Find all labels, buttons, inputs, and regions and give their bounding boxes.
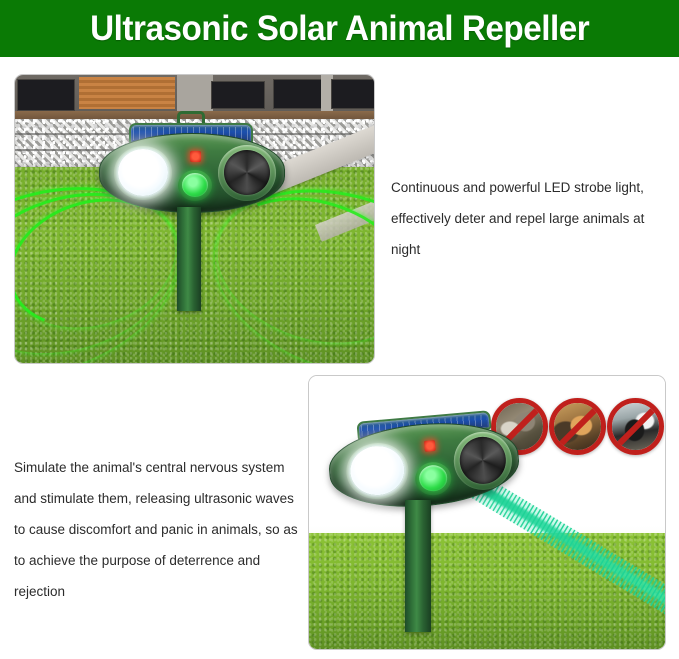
no-cat-icon — [549, 398, 606, 455]
house-window — [17, 79, 75, 111]
power-indicator-icon — [424, 440, 436, 452]
repeller-device — [327, 402, 527, 632]
ultrasonic-speaker — [224, 150, 270, 195]
ground-stake — [177, 207, 201, 311]
wall-panel — [177, 75, 213, 115]
mode-button[interactable] — [182, 173, 208, 197]
house-window — [331, 79, 375, 109]
feature-text-ultrasonic: Simulate the animal's central nervous sy… — [14, 452, 299, 607]
top-lawn-photo — [14, 74, 375, 364]
house-window — [273, 79, 323, 109]
page-title: Ultrasonic Solar Animal Repeller — [90, 9, 589, 49]
repeller-device — [93, 111, 293, 311]
led-strobe-lens — [118, 149, 168, 196]
ground-stake — [405, 500, 431, 632]
no-skunk-icon — [607, 398, 664, 455]
power-indicator-icon — [190, 151, 201, 162]
feature-text-led: Continuous and powerful LED strobe light… — [391, 172, 659, 265]
house-window — [211, 81, 265, 109]
header-banner: Ultrasonic Solar Animal Repeller — [0, 0, 679, 57]
bottom-beam-photo — [308, 375, 666, 650]
device-body — [99, 133, 285, 213]
wood-siding — [79, 77, 175, 109]
